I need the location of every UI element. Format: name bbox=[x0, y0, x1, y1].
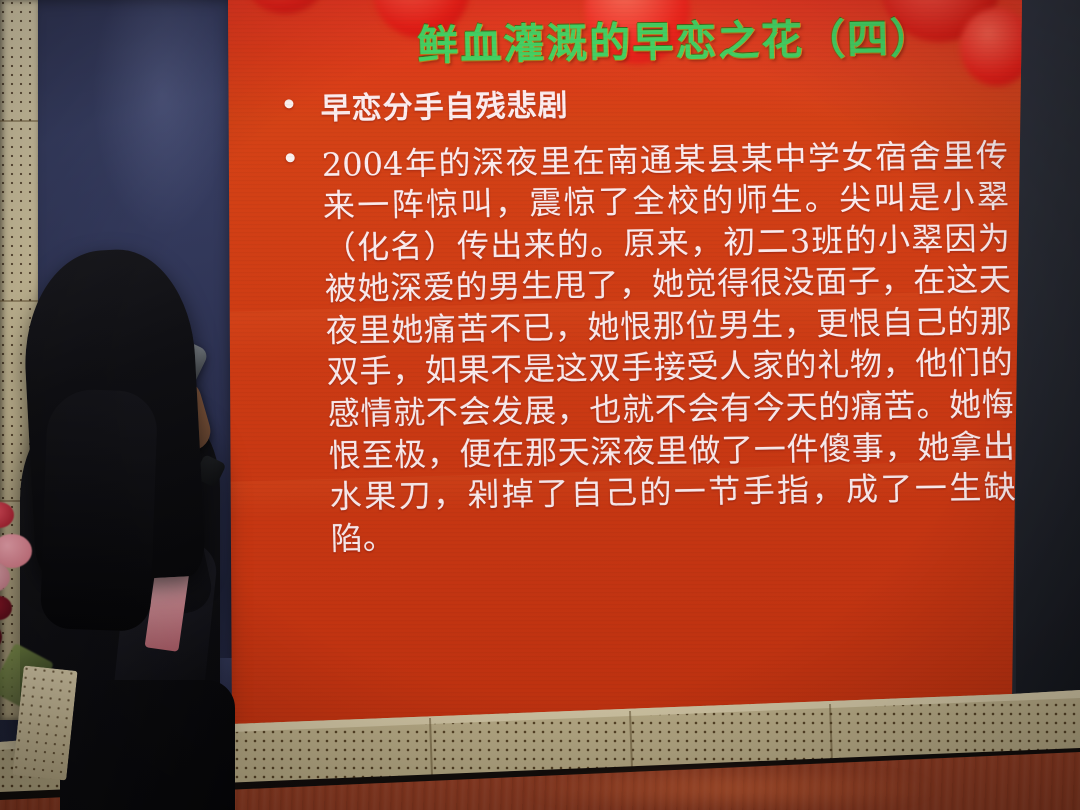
bouquet-wrapping bbox=[12, 665, 77, 780]
flower-petal bbox=[0, 622, 2, 652]
flower-petal bbox=[0, 534, 32, 568]
wall-light-glow bbox=[92, 0, 232, 237]
slide-title: 鲜血灌溉的早恋之花（四） bbox=[240, 3, 1031, 74]
flower-petal bbox=[0, 502, 14, 528]
slide-bullet-item: 早恋分手自残悲剧 bbox=[284, 81, 1007, 129]
slide-bullet-headline-text: 早恋分手自残悲剧 bbox=[284, 81, 1007, 129]
slide-bullet-list: 早恋分手自残悲剧 2004年的深夜里在南通某县某中学女宿舍里传来一阵惊叫，震惊了… bbox=[242, 81, 1043, 561]
slide-content: 鲜血灌溉的早恋之花（四） 早恋分手自残悲剧 2004年的深夜里在南通某县某中学女… bbox=[240, 0, 1047, 740]
flower-bouquet bbox=[0, 500, 92, 730]
slide-bullet-story-text: 2004年的深夜里在南通某县某中学女宿舍里传来一阵惊叫，震惊了全校的师生。尖叫是… bbox=[285, 135, 1017, 561]
floor-light-reflection bbox=[520, 766, 940, 810]
bullet-dot-icon bbox=[286, 153, 295, 162]
slide-bullet-item: 2004年的深夜里在南通某县某中学女宿舍里传来一阵惊叫，震惊了全校的师生。尖叫是… bbox=[285, 135, 1017, 561]
presentation-photo-scene: 鲜血灌溉的早恋之花（四） 早恋分手自残悲剧 2004年的深夜里在南通某县某中学女… bbox=[0, 0, 1080, 810]
flower-petal bbox=[0, 596, 12, 620]
